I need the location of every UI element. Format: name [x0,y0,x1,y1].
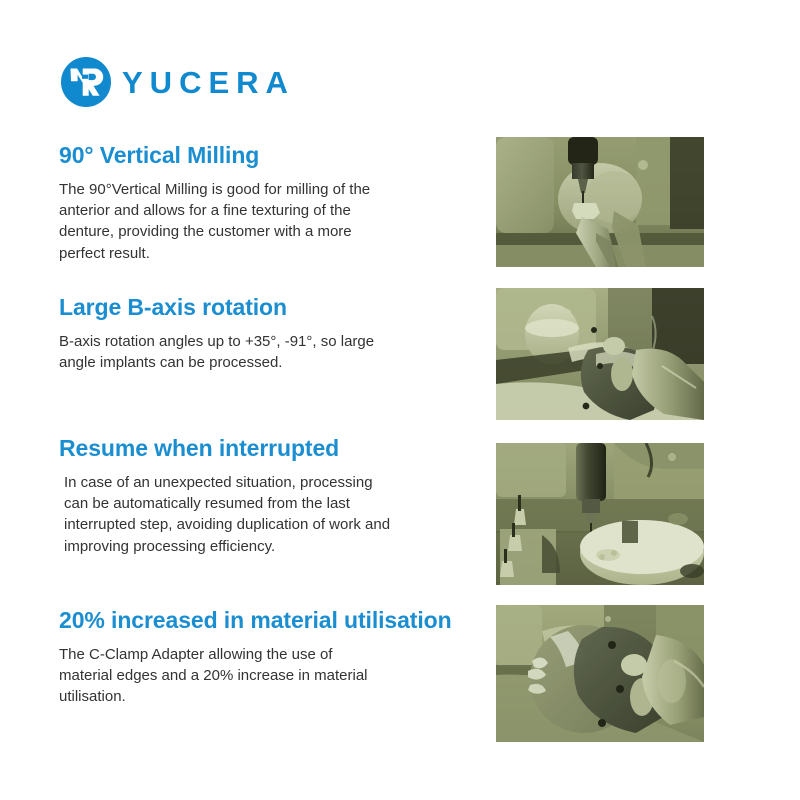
photo-vertical-milling [496,137,704,267]
feature-title: Large B-axis rotation [59,295,479,321]
feature-title: 90° Vertical Milling [59,143,479,169]
feature-body: In case of an unexpected situation, proc… [64,472,394,557]
photo-material-utilisation-image [496,605,704,742]
photo-material-utilisation [496,605,704,742]
feature-body: The 90°Vertical Milling is good for mill… [59,179,389,264]
feature-title: Resume when interrupted [59,436,479,462]
brand-wordmark: YUCERA [122,67,295,98]
feature-body: B-axis rotation angles up to +35°, -91°,… [59,331,389,374]
brand-logo: YUCERA [60,52,295,112]
photo-b-axis-rotation [496,288,704,420]
photo-vertical-milling-image [496,137,704,267]
photo-b-axis-rotation-image [496,288,704,420]
photo-resume-when-interrupted-image [496,443,704,585]
feature-body: The C-Clamp Adapter allowing the use of … [59,644,389,708]
feature-title: 20% increased in material utilisation [59,608,479,634]
photo-resume-when-interrupted [496,443,704,585]
yucera-yr-monogram-icon [60,56,112,108]
